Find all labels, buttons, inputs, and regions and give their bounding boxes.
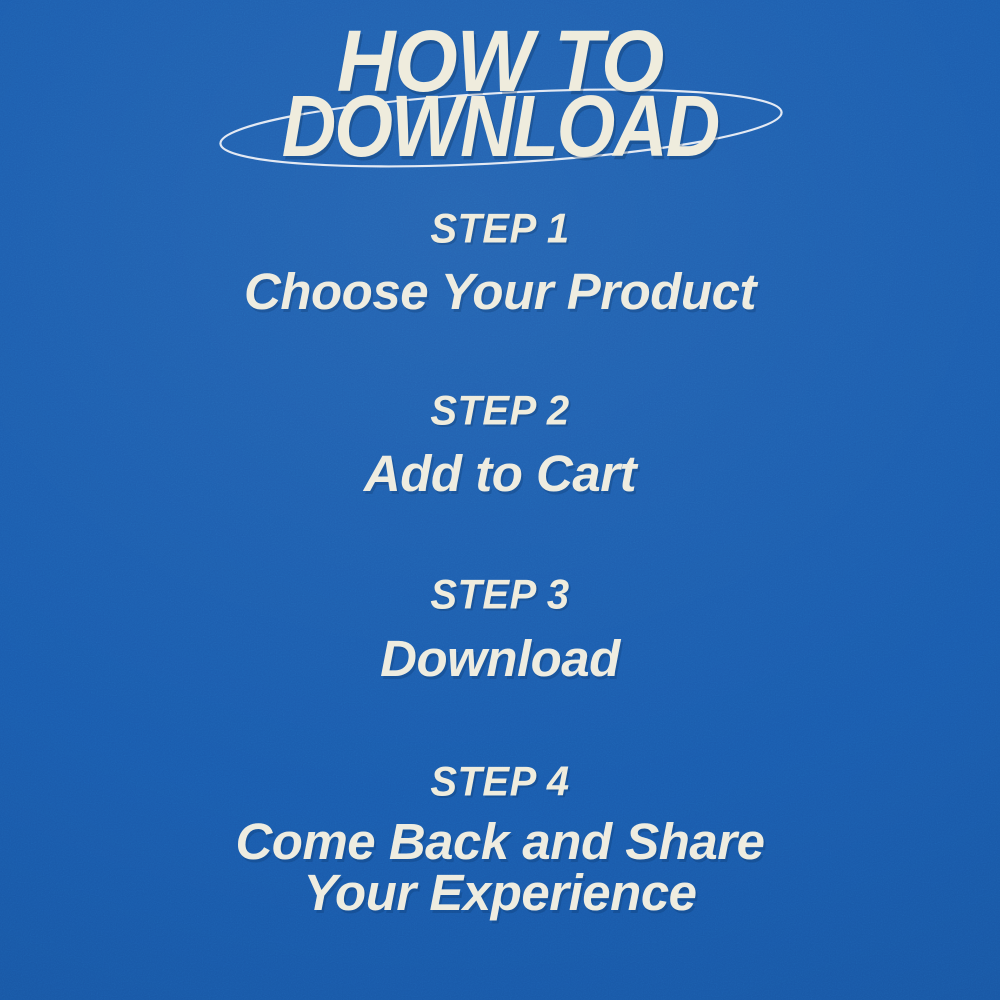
step-description-line: Download (0, 632, 1000, 685)
step-item-4: STEP 4 Come Back and Share Your Experien… (0, 761, 1000, 918)
step-description-3: Download (0, 632, 1000, 685)
step-item-3: STEP 3 Download (0, 574, 1000, 684)
step-description-2: Add to Cart (0, 447, 1000, 500)
how-to-download-poster: HOW TO DOWNLOAD STEP 1 Choose Your Produ… (0, 0, 1000, 1000)
step-label-4: STEP 4 (0, 760, 1000, 805)
step-item-2: STEP 2 Add to Cart (0, 390, 1000, 500)
step-description-1: Choose Your Product (0, 265, 1000, 318)
page-title: HOW TO DOWNLOAD (0, 26, 1000, 150)
steps-list: STEP 1 Choose Your Product STEP 2 Add to… (0, 208, 1000, 918)
step-description-line: Your Experience (0, 867, 1000, 918)
step-label-3: STEP 3 (0, 574, 1000, 619)
step-description-line: Come Back and Share (0, 816, 1000, 867)
step-label-2: STEP 2 (0, 389, 1000, 434)
step-description-4: Come Back and Share Your Experience (0, 816, 1000, 918)
page-title-line-2: DOWNLOAD (0, 91, 1000, 161)
step-description-line: Add to Cart (0, 447, 1000, 500)
step-description-line: Choose Your Product (0, 265, 1000, 318)
step-item-1: STEP 1 Choose Your Product (0, 208, 1000, 318)
step-label-1: STEP 1 (0, 207, 1000, 252)
